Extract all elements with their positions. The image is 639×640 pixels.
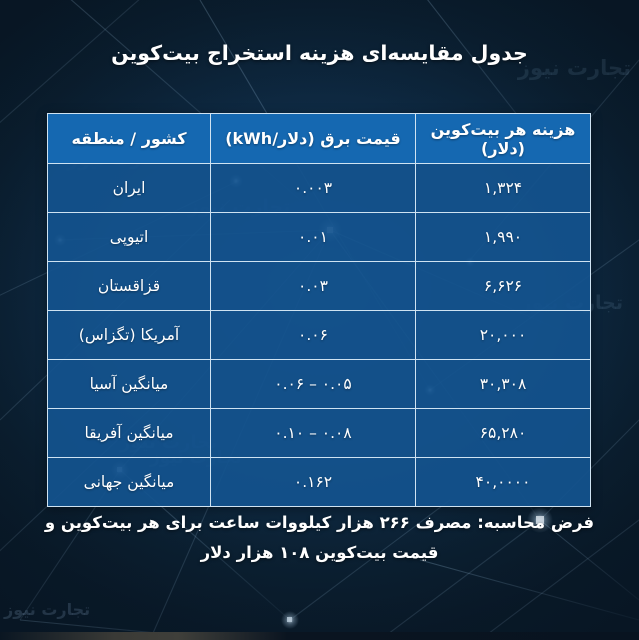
table-row: ۶,۶۲۶ ۰.۰۳ قزاقستان bbox=[48, 262, 591, 311]
cell-price: ۰.۰۸ – ۰.۱۰ bbox=[211, 409, 416, 458]
cell-price: ۰.۰۶ bbox=[211, 311, 416, 360]
cell-cost: ۶,۶۲۶ bbox=[416, 262, 591, 311]
comparison-table: هزینه هر بیت‌کوین (دلار) قیمت برق (دلار/… bbox=[47, 113, 591, 507]
cell-region: اتیوپی bbox=[48, 213, 211, 262]
column-header-price: قیمت برق (دلار/kWh) bbox=[211, 114, 416, 164]
column-header-region: کشور / منطقه bbox=[48, 114, 211, 164]
cell-price: ۰.۱۶۲ bbox=[211, 458, 416, 507]
cell-price: ۰.۰۵ – ۰.۰۶ bbox=[211, 360, 416, 409]
table-row: ۳۰,۳۰۸ ۰.۰۵ – ۰.۰۶ میانگین آسیا bbox=[48, 360, 591, 409]
assumption-footnote: فرض محاسبه: مصرف ۲۶۶ هزار کیلووات ساعت ب… bbox=[0, 508, 639, 568]
table-header-row: هزینه هر بیت‌کوین (دلار) قیمت برق (دلار/… bbox=[48, 114, 591, 164]
cell-cost: ۶۵,۲۸۰ bbox=[416, 409, 591, 458]
cell-region: آمریکا (تگزاس) bbox=[48, 311, 211, 360]
bottom-edge-bar bbox=[0, 632, 639, 640]
watermark-logo: تجارت نیوز bbox=[4, 600, 90, 619]
cell-price: ۰.۰۳ bbox=[211, 262, 416, 311]
table-body: ۱,۳۲۴ ۰.۰۰۳ ایران ۱,۹۹۰ ۰.۰۱ اتیوپی ۶,۶۲… bbox=[48, 164, 591, 507]
page-title: جدول مقایسه‌ای هزینه استخراج بیت‌کوین bbox=[0, 41, 639, 65]
cell-cost: ۲۰,۰۰۰ bbox=[416, 311, 591, 360]
column-header-cost: هزینه هر بیت‌کوین (دلار) bbox=[416, 114, 591, 164]
cell-cost: ۳۰,۳۰۸ bbox=[416, 360, 591, 409]
cell-region: ایران bbox=[48, 164, 211, 213]
comparison-table-container: هزینه هر بیت‌کوین (دلار) قیمت برق (دلار/… bbox=[48, 113, 591, 507]
footnote-line-2: قیمت بیت‌کوین ۱۰۸ هزار دلار bbox=[0, 538, 639, 568]
cell-cost: ۱,۳۲۴ bbox=[416, 164, 591, 213]
cell-region: میانگین آسیا bbox=[48, 360, 211, 409]
cell-price: ۰.۰۱ bbox=[211, 213, 416, 262]
table-row: ۱,۹۹۰ ۰.۰۱ اتیوپی bbox=[48, 213, 591, 262]
table-row: ۱,۳۲۴ ۰.۰۰۳ ایران bbox=[48, 164, 591, 213]
cell-cost: ۴۰,۰۰۰۰ bbox=[416, 458, 591, 507]
cell-region: میانگین آفریقا bbox=[48, 409, 211, 458]
cell-cost: ۱,۹۹۰ bbox=[416, 213, 591, 262]
footnote-line-1: فرض محاسبه: مصرف ۲۶۶ هزار کیلووات ساعت ب… bbox=[0, 508, 639, 538]
table-row: ۲۰,۰۰۰ ۰.۰۶ آمریکا (تگزاس) bbox=[48, 311, 591, 360]
table-row: ۴۰,۰۰۰۰ ۰.۱۶۲ میانگین جهانی bbox=[48, 458, 591, 507]
cell-price: ۰.۰۰۳ bbox=[211, 164, 416, 213]
infographic-canvas: تجارت نیوز تجارت نیوز تجارت نیوز تجارت ن… bbox=[0, 0, 639, 640]
table-header: هزینه هر بیت‌کوین (دلار) قیمت برق (دلار/… bbox=[48, 114, 591, 164]
cell-region: قزاقستان bbox=[48, 262, 211, 311]
table-row: ۶۵,۲۸۰ ۰.۰۸ – ۰.۱۰ میانگین آفریقا bbox=[48, 409, 591, 458]
cell-region: میانگین جهانی bbox=[48, 458, 211, 507]
